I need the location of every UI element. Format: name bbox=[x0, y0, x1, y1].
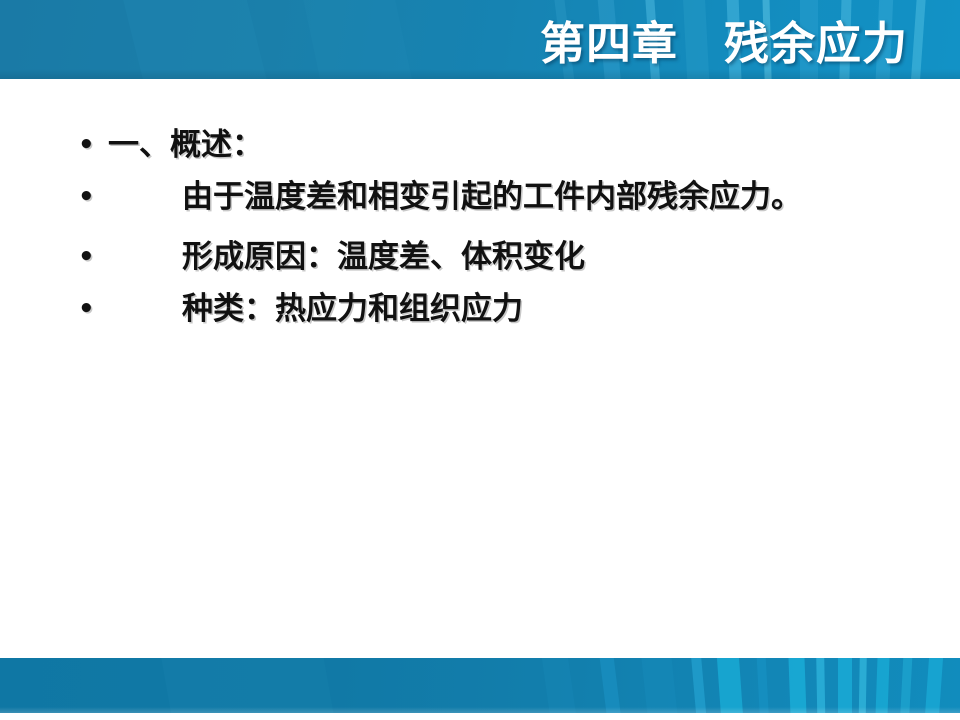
bullet-marker-icon: • bbox=[78, 234, 108, 280]
footer-ray bbox=[858, 658, 867, 713]
footer-ray bbox=[838, 658, 852, 713]
slide-footer-banner bbox=[0, 658, 960, 713]
footer-ray bbox=[924, 658, 944, 713]
slide-header-banner: 第四章 残余应力 bbox=[0, 0, 960, 79]
slide-canvas: 第四章 残余应力 • 一、概述： • 由于温度差和相变引起的工件内部残余应力。 … bbox=[0, 0, 960, 720]
bullet-list: • 一、概述： • 由于温度差和相变引起的工件内部残余应力。 • 形成原因：温度… bbox=[78, 122, 908, 338]
footer-ray bbox=[816, 658, 826, 713]
list-item: • 形成原因：温度差、体积变化 bbox=[78, 234, 908, 280]
list-item-text: 一、概述： bbox=[108, 122, 908, 168]
footer-ray bbox=[540, 658, 578, 713]
footer-ray bbox=[875, 658, 890, 713]
footer-ray bbox=[598, 658, 623, 713]
footer-ray-decoration bbox=[0, 658, 960, 713]
footer-ray bbox=[756, 658, 770, 713]
bullet-marker-icon: • bbox=[78, 122, 108, 168]
footer-ray bbox=[899, 658, 913, 713]
bullet-marker-icon: • bbox=[78, 286, 108, 332]
list-item: • 种类：热应力和组织应力 bbox=[78, 286, 908, 332]
bullet-marker-icon: • bbox=[78, 174, 108, 220]
list-item-text: 由于温度差和相变引起的工件内部残余应力。 bbox=[108, 174, 908, 220]
footer-ray bbox=[788, 658, 807, 713]
footer-ray bbox=[690, 658, 708, 713]
list-item: • 一、概述： bbox=[78, 122, 908, 168]
list-item: • 由于温度差和相变引起的工件内部残余应力。 bbox=[78, 174, 908, 220]
list-item-text: 形成原因：温度差、体积变化 bbox=[108, 234, 908, 280]
page-title: 第四章 残余应力 bbox=[0, 0, 930, 79]
list-item-text: 种类：热应力和组织应力 bbox=[108, 286, 908, 332]
footer-ray bbox=[161, 658, 334, 713]
footer-ray bbox=[716, 658, 744, 713]
footer-ray bbox=[640, 658, 679, 713]
